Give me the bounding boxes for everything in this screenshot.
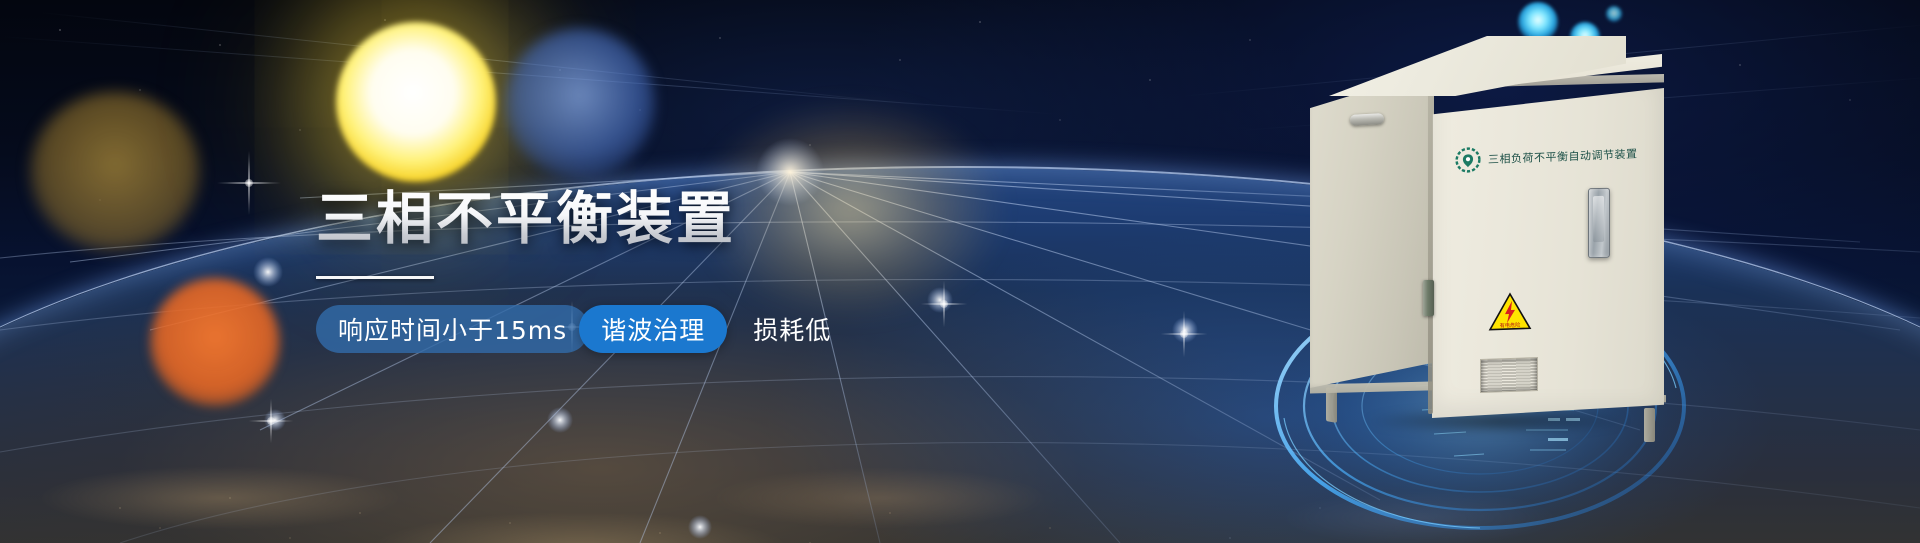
feature-pill-low-loss[interactable]: 损耗低 — [731, 305, 853, 353]
feature-pill-list: 响应时间小于15ms 谐波治理 损耗低 — [316, 305, 1016, 353]
cabinet-door-seam — [1428, 92, 1433, 414]
white-glow-orb — [336, 22, 496, 182]
amber-bokeh-orb — [30, 92, 200, 252]
page-title: 三相不平衡装置 — [316, 188, 1016, 252]
lens-flare-sparkle-icon — [216, 150, 282, 216]
green-circular-emblem-icon — [1455, 147, 1481, 174]
feature-pill-harmonic[interactable]: 谐波治理 — [579, 305, 727, 353]
cabinet-leg — [1644, 408, 1655, 442]
title-divider — [316, 276, 434, 279]
lens-flare-sparkle-icon — [1160, 310, 1208, 358]
cabinet-roof-top — [1310, 36, 1626, 96]
door-hinge-icon — [1423, 280, 1434, 316]
orange-bokeh-orb — [150, 278, 280, 406]
cyan-light-dot-icon — [1606, 6, 1622, 22]
lens-flare-sparkle-icon — [248, 398, 294, 444]
product-name-text: 三相负荷不平衡自动调节装置 — [1488, 145, 1638, 167]
high-voltage-warning-icon: 有电危险 — [1488, 291, 1532, 333]
door-handle-icon — [1588, 188, 1610, 258]
ventilation-grille-icon — [1480, 357, 1538, 393]
banner-copy-block: 三相不平衡装置 响应时间小于15ms 谐波治理 损耗低 — [316, 188, 1016, 353]
three-phase-balancing-cabinet: 三相负荷不平衡自动调节装置 有电危险 — [1292, 36, 1712, 436]
feature-pill-response-time[interactable]: 响应时间小于15ms — [316, 305, 589, 353]
hero-banner: 三相负荷不平衡自动调节装置 有电危险 三相不平衡装置 响应时间小于15ms 谐波… — [0, 0, 1920, 543]
cabinet-front-door — [1432, 88, 1664, 418]
side-door-handle-icon — [1350, 113, 1385, 126]
blue-bokeh-orb — [505, 28, 655, 178]
